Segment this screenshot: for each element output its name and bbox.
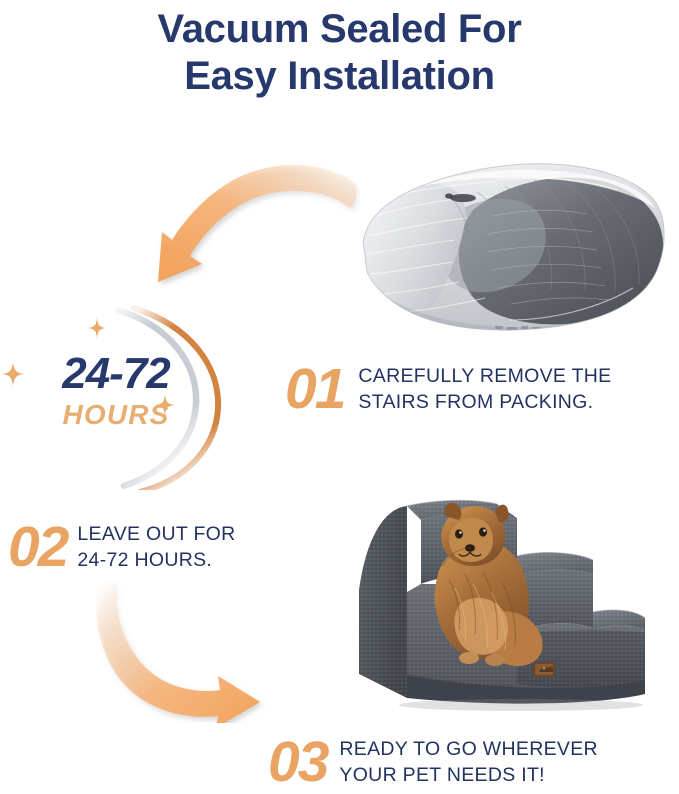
page-title-line-2: Easy Installation	[0, 53, 679, 100]
sparkle-star-icon	[88, 318, 106, 338]
pet-stairs-with-dog-photo	[345, 462, 675, 717]
badge-duration-value: 24-72	[26, 352, 206, 397]
vacuum-sealed-bag-photo	[345, 150, 670, 345]
step-03-text: READY TO GO WHEREVER YOUR PET NEEDS IT!	[339, 737, 597, 788]
curved-arrow-down-right-icon	[92, 578, 292, 723]
brand-logo-patch	[533, 662, 555, 677]
page-title: Vacuum Sealed For Easy Installation	[0, 6, 679, 100]
page-title-line-1: Vacuum Sealed For	[0, 6, 679, 53]
step-01: 01 CAREFULLY REMOVE THE STAIRS FROM PACK…	[285, 362, 611, 416]
step-02-text: LEAVE OUT FOR 24-72 HOURS.	[77, 522, 235, 573]
duration-badge: 24-72 HOURS	[0, 300, 265, 490]
step-02-number: 02	[8, 520, 67, 574]
curved-arrow-down-left-icon	[150, 152, 360, 302]
badge-text-group: 24-72 HOURS	[26, 352, 206, 431]
dog-illustration	[435, 503, 543, 666]
sparkle-star-icon	[155, 394, 175, 416]
step-03-number: 03	[268, 735, 327, 789]
badge-duration-unit: HOURS	[26, 399, 206, 431]
step-03: 03 READY TO GO WHEREVER YOUR PET NEEDS I…	[268, 735, 598, 789]
step-01-number: 01	[285, 362, 344, 416]
step-01-text: CAREFULLY REMOVE THE STAIRS FROM PACKING…	[358, 364, 611, 415]
step-02: 02 LEAVE OUT FOR 24-72 HOURS.	[8, 520, 236, 574]
sparkle-star-icon	[2, 362, 24, 386]
